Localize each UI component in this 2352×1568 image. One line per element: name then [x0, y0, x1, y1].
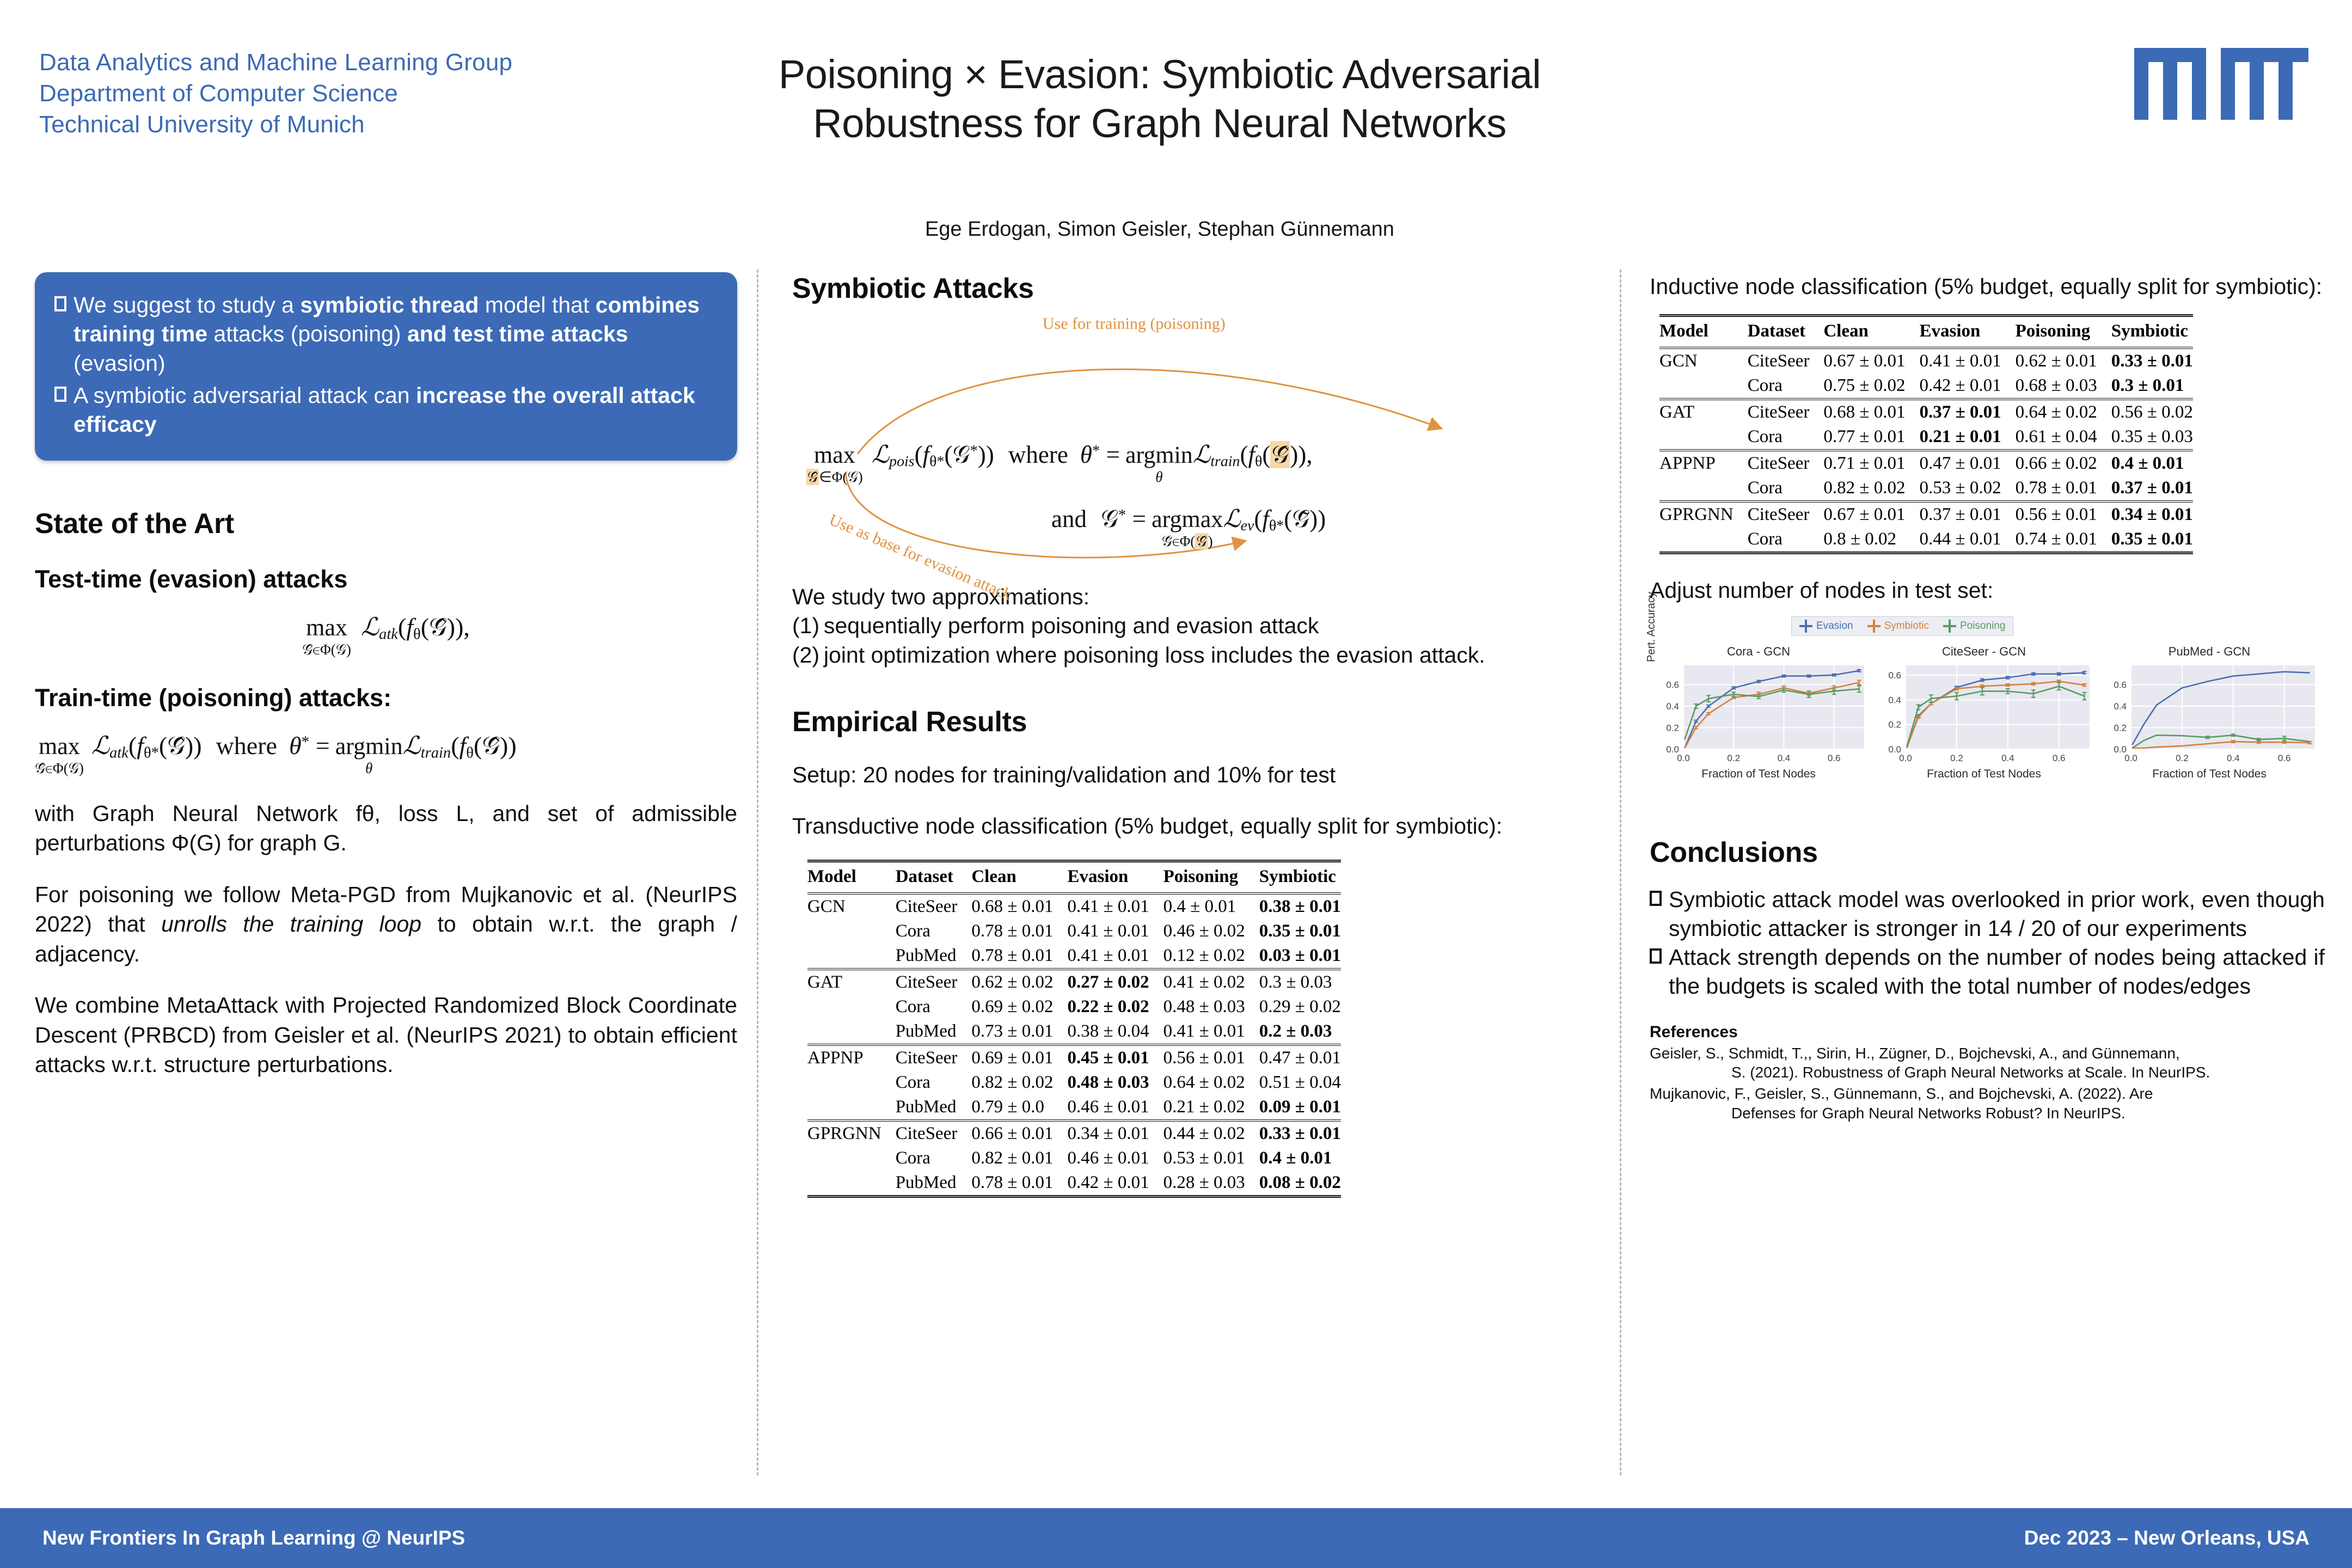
approximation-2-number: (2) [792, 641, 824, 670]
cell-model [807, 995, 896, 1019]
footer-bar: New Frontiers In Graph Learning @ NeurIP… [0, 1508, 2352, 1568]
cell-dataset: CiteSeer [1748, 348, 1824, 373]
table-row: GPRGNNCiteSeer0.67 ± 0.010.37 ± 0.010.56… [1659, 501, 2193, 527]
cell-clean: 0.8 ± 0.02 [1823, 527, 1919, 553]
key-bullet-1-text: We suggest to study a symbiotic thread m… [73, 291, 715, 378]
charts-block: Evasion Symbiotic Poisoning Cora - GCN0.… [1650, 616, 2325, 829]
cell-symbiotic: 0.3 ± 0.03 [1259, 969, 1341, 995]
chart-2-x-axis-label: Fraction of Test Nodes [1875, 768, 2093, 781]
table-row: Cora0.82 ± 0.010.46 ± 0.010.53 ± 0.010.4… [807, 1146, 1341, 1171]
approximation-1-number: (1) [792, 611, 824, 640]
references-heading: References [1650, 1023, 2325, 1042]
cell-poisoning: 0.53 ± 0.01 [1163, 1146, 1259, 1171]
cell-symbiotic: 0.35 ± 0.03 [2111, 425, 2193, 450]
inductive-results-table-wrapper: ModelDatasetCleanEvasionPoisoningSymbiot… [1659, 314, 2335, 554]
table-row: PubMed0.73 ± 0.010.38 ± 0.040.41 ± 0.010… [807, 1019, 1341, 1045]
cell-dataset: CiteSeer [1748, 450, 1824, 476]
approximations-intro: We study two approximations: [792, 583, 1587, 611]
cell-clean: 0.67 ± 0.01 [1823, 501, 1919, 527]
cell-poisoning: 0.12 ± 0.02 [1163, 944, 1259, 969]
transductive-results-table-wrapper: ModelDatasetCleanEvasionPoisoningSymbiot… [807, 860, 1480, 1198]
key-takeaways-box: We suggest to study a symbiotic thread m… [35, 272, 737, 461]
paragraph-definitions-text: with Graph Neural Network fθ, loss L, an… [35, 801, 737, 856]
svg-text:0.2: 0.2 [2176, 753, 2189, 763]
cell-evasion: 0.46 ± 0.01 [1067, 1095, 1163, 1120]
table-row: PubMed0.79 ± 0.00.46 ± 0.010.21 ± 0.020.… [807, 1095, 1341, 1120]
checkbox-icon [1650, 891, 1662, 906]
plus-marker-icon [1867, 620, 1881, 633]
cell-poisoning: 0.56 ± 0.01 [1163, 1045, 1259, 1070]
cell-symbiotic: 0.03 ± 0.01 [1259, 944, 1341, 969]
column-divider-2 [1620, 269, 1621, 1475]
cell-evasion: 0.42 ± 0.01 [1067, 1171, 1163, 1197]
title-line-2: Robustness for Graph Neural Networks [642, 99, 1677, 148]
chart-y-axis-label: Pert. Accuracy [1645, 592, 1658, 662]
title-line-1: Poisoning × Evasion: Symbiotic Adversari… [642, 50, 1677, 99]
cell-symbiotic: 0.33 ± 0.01 [2111, 348, 2193, 373]
table-row: GCNCiteSeer0.68 ± 0.010.41 ± 0.010.4 ± 0… [807, 893, 1341, 919]
cell-symbiotic: 0.09 ± 0.01 [1259, 1095, 1341, 1120]
conclusion-item-2: Attack strength depends on the number of… [1650, 943, 2325, 1001]
conclusions-list: Symbiotic attack model was overlooked in… [1650, 885, 2325, 1001]
middle-column: Symbiotic Attacks Use for training (pois… [792, 272, 1587, 1198]
cell-symbiotic: 0.37 ± 0.01 [2111, 476, 2193, 501]
chart-row: Cora - GCN0.00.20.40.60.00.20.40.6Fracti… [1650, 645, 2318, 781]
svg-text:0.0: 0.0 [1677, 753, 1690, 763]
cell-clean: 0.69 ± 0.01 [971, 1045, 1067, 1070]
cell-model: GAT [1659, 399, 1748, 425]
cell-evasion: 0.45 ± 0.01 [1067, 1045, 1163, 1070]
cell-model [807, 1146, 896, 1171]
svg-text:0.4: 0.4 [2001, 753, 2014, 763]
cell-clean: 0.82 ± 0.02 [1823, 476, 1919, 501]
cell-evasion: 0.48 ± 0.03 [1067, 1070, 1163, 1095]
chart-1-plot: 0.00.20.40.60.00.20.40.6 [1650, 662, 1867, 765]
cell-dataset: PubMed [896, 1095, 972, 1120]
legend-label-symbiotic: Symbiotic [1884, 620, 1929, 632]
table-header-evasion: Evasion [1919, 316, 2015, 348]
chart-1-title: Cora - GCN [1650, 645, 1867, 659]
right-column: Inductive node classification (5% budget… [1650, 272, 2325, 1123]
cell-dataset: PubMed [896, 944, 972, 969]
affiliation-line-3: Technical University of Munich [39, 109, 512, 140]
cell-model [1659, 476, 1748, 501]
section-heading-conclusions: Conclusions [1650, 836, 2325, 869]
reference-1-line-2: S. (2021). Robustness of Graph Neural Ne… [1650, 1063, 2325, 1082]
svg-text:0.6: 0.6 [1828, 753, 1841, 763]
cell-model: GAT [807, 969, 896, 995]
cell-clean: 0.71 ± 0.01 [1823, 450, 1919, 476]
cell-poisoning: 0.68 ± 0.03 [2016, 373, 2111, 399]
table-row: Cora0.82 ± 0.020.48 ± 0.030.64 ± 0.020.5… [807, 1070, 1341, 1095]
cell-clean: 0.68 ± 0.01 [971, 893, 1067, 919]
chart-legend: Evasion Symbiotic Poisoning [1791, 616, 2013, 636]
column-divider-1 [757, 269, 758, 1475]
cell-dataset: Cora [896, 995, 972, 1019]
svg-text:0.2: 0.2 [1950, 753, 1963, 763]
cell-dataset: CiteSeer [1748, 501, 1824, 527]
table-header-evasion: Evasion [1067, 861, 1163, 893]
cell-clean: 0.82 ± 0.02 [971, 1070, 1067, 1095]
cell-evasion: 0.47 ± 0.01 [1919, 450, 2015, 476]
cell-evasion: 0.44 ± 0.01 [1919, 527, 2015, 553]
equation-evasion: max 𝒢̂∈Φ(𝒢) ℒatk(fθ(𝒢̂)), [35, 612, 737, 658]
cell-evasion: 0.37 ± 0.01 [1919, 501, 2015, 527]
cell-poisoning: 0.46 ± 0.02 [1163, 919, 1259, 944]
paragraph-definitions: with Graph Neural Network fθ, loss L, an… [35, 799, 737, 858]
transductive-caption: Transductive node classification (5% bud… [792, 811, 1587, 841]
svg-text:0.6: 0.6 [1888, 670, 1901, 681]
chart-2-title: CiteSeer - GCN [1875, 645, 2093, 659]
setup-text: Setup: 20 nodes for training/validation … [792, 760, 1587, 790]
cell-clean: 0.78 ± 0.01 [971, 944, 1067, 969]
table-header-clean: Clean [971, 861, 1067, 893]
cell-poisoning: 0.64 ± 0.02 [1163, 1070, 1259, 1095]
section-heading-symbiotic-attacks: Symbiotic Attacks [792, 272, 1587, 305]
chart-2: CiteSeer - GCN0.00.20.40.60.00.20.40.6Fr… [1875, 645, 2093, 781]
svg-text:0.6: 0.6 [1666, 679, 1679, 690]
cell-evasion: 0.41 ± 0.01 [1919, 348, 2015, 373]
cell-evasion: 0.41 ± 0.01 [1067, 893, 1163, 919]
svg-text:0.4: 0.4 [1888, 695, 1901, 705]
svg-text:0.2: 0.2 [1666, 722, 1679, 733]
cell-poisoning: 0.28 ± 0.03 [1163, 1171, 1259, 1197]
cell-model [807, 1019, 896, 1045]
cell-symbiotic: 0.47 ± 0.01 [1259, 1045, 1341, 1070]
cell-symbiotic: 0.29 ± 0.02 [1259, 995, 1341, 1019]
affiliation-line-2: Department of Computer Science [39, 78, 512, 109]
cell-evasion: 0.37 ± 0.01 [1919, 399, 2015, 425]
cell-clean: 0.66 ± 0.01 [971, 1120, 1067, 1146]
footer-date-location: Dec 2023 – New Orleans, USA [2024, 1527, 2310, 1549]
cell-poisoning: 0.74 ± 0.01 [2016, 527, 2111, 553]
subheading-poisoning-attacks: Train-time (poisoning) attacks: [35, 684, 737, 712]
cell-evasion: 0.34 ± 0.01 [1067, 1120, 1163, 1146]
diagram-label-use-for-training: Use for training (poisoning) [1043, 315, 1226, 333]
footer-venue: New Frontiers In Graph Learning @ NeurIP… [42, 1527, 465, 1549]
table-row: APPNPCiteSeer0.69 ± 0.010.45 ± 0.010.56 … [807, 1045, 1341, 1070]
approximation-2-text: joint optimization where poisoning loss … [824, 641, 1587, 670]
cell-clean: 0.77 ± 0.01 [1823, 425, 1919, 450]
cell-clean: 0.69 ± 0.02 [971, 995, 1067, 1019]
cell-dataset: Cora [896, 1070, 972, 1095]
cell-poisoning: 0.66 ± 0.02 [2016, 450, 2111, 476]
legend-item-evasion: Evasion [1799, 620, 1853, 633]
table-row: GATCiteSeer0.68 ± 0.010.37 ± 0.010.64 ± … [1659, 399, 2193, 425]
section-heading-state-of-the-art: State of the Art [35, 507, 737, 540]
cell-clean: 0.78 ± 0.01 [971, 1171, 1067, 1197]
cell-clean: 0.75 ± 0.02 [1823, 373, 1919, 399]
reference-item-2: Mujkanovic, F., Geisler, S., Günnemann, … [1650, 1084, 2325, 1123]
cell-dataset: Cora [1748, 425, 1824, 450]
table-header-symbiotic: Symbiotic [2111, 316, 2193, 348]
cell-evasion: 0.41 ± 0.01 [1067, 944, 1163, 969]
cell-symbiotic: 0.33 ± 0.01 [1259, 1120, 1341, 1146]
cell-symbiotic: 0.4 ± 0.01 [2111, 450, 2193, 476]
cell-poisoning: 0.21 ± 0.02 [1163, 1095, 1259, 1120]
cell-dataset: CiteSeer [896, 1120, 972, 1146]
table-header-poisoning: Poisoning [2016, 316, 2111, 348]
cell-model [1659, 373, 1748, 399]
table-header-clean: Clean [1823, 316, 1919, 348]
legend-item-poisoning: Poisoning [1943, 620, 2005, 633]
cell-poisoning: 0.41 ± 0.02 [1163, 969, 1259, 995]
cell-model: GPRGNN [807, 1120, 896, 1146]
table-row: APPNPCiteSeer0.71 ± 0.010.47 ± 0.010.66 … [1659, 450, 2193, 476]
chart-3-plot: 0.00.20.40.60.00.20.40.6 [2100, 662, 2318, 765]
cell-evasion: 0.38 ± 0.04 [1067, 1019, 1163, 1045]
chart-1-x-axis-label: Fraction of Test Nodes [1650, 768, 1867, 781]
checkbox-icon [1650, 948, 1662, 964]
svg-text:0.0: 0.0 [1899, 753, 1912, 763]
svg-text:0.2: 0.2 [2114, 722, 2127, 733]
table-row: Cora0.75 ± 0.020.42 ± 0.010.68 ± 0.030.3… [1659, 373, 2193, 399]
cell-symbiotic: 0.35 ± 0.01 [1259, 919, 1341, 944]
cell-symbiotic: 0.51 ± 0.04 [1259, 1070, 1341, 1095]
cell-clean: 0.62 ± 0.02 [971, 969, 1067, 995]
conclusion-item-1: Symbiotic attack model was overlooked in… [1650, 885, 2325, 944]
cell-poisoning: 0.64 ± 0.02 [2016, 399, 2111, 425]
table-header-dataset: Dataset [1748, 316, 1824, 348]
chart-3-title: PubMed - GCN [2100, 645, 2318, 659]
cell-symbiotic: 0.2 ± 0.03 [1259, 1019, 1341, 1045]
tum-logo-icon [2134, 48, 2308, 120]
svg-text:0.4: 0.4 [2114, 701, 2127, 712]
legend-label-poisoning: Poisoning [1960, 620, 2005, 632]
cell-model [807, 1171, 896, 1197]
cell-evasion: 0.46 ± 0.01 [1067, 1146, 1163, 1171]
cell-evasion: 0.21 ± 0.01 [1919, 425, 2015, 450]
cell-dataset: PubMed [896, 1171, 972, 1197]
cell-model [807, 944, 896, 969]
cell-model [807, 1095, 896, 1120]
svg-text:0.4: 0.4 [1778, 753, 1791, 763]
cell-symbiotic: 0.35 ± 0.01 [2111, 527, 2193, 553]
cell-dataset: Cora [896, 1146, 972, 1171]
legend-item-symbiotic: Symbiotic [1867, 620, 1929, 633]
paragraph-prbcd: We combine MetaAttack with Projected Ran… [35, 990, 737, 1080]
approximation-item-2: (2) joint optimization where poisoning l… [792, 641, 1587, 670]
cell-model [807, 919, 896, 944]
paragraph-meta-pgd-italic: unrolls the training loop [161, 911, 421, 936]
cell-evasion: 0.42 ± 0.01 [1919, 373, 2015, 399]
table-row: PubMed0.78 ± 0.010.42 ± 0.010.28 ± 0.030… [807, 1171, 1341, 1197]
table-header-poisoning: Poisoning [1163, 861, 1259, 893]
cell-model: GCN [1659, 348, 1748, 373]
cell-poisoning: 0.48 ± 0.03 [1163, 995, 1259, 1019]
table-row: PubMed0.78 ± 0.010.41 ± 0.010.12 ± 0.020… [807, 944, 1341, 969]
left-column: We suggest to study a symbiotic thread m… [35, 272, 737, 1080]
cell-evasion: 0.27 ± 0.02 [1067, 969, 1163, 995]
svg-text:0.4: 0.4 [2227, 753, 2240, 763]
plus-marker-icon [1799, 620, 1812, 633]
cell-clean: 0.67 ± 0.01 [1823, 348, 1919, 373]
cell-model: GPRGNN [1659, 501, 1748, 527]
checkbox-icon [54, 296, 66, 311]
cell-model: APPNP [807, 1045, 896, 1070]
author-list: Ege Erdogan, Simon Geisler, Stephan Günn… [642, 218, 1677, 241]
key-bullet-1: We suggest to study a symbiotic thread m… [54, 291, 715, 378]
cell-dataset: CiteSeer [896, 893, 972, 919]
cell-model [1659, 425, 1748, 450]
page-title: Poisoning × Evasion: Symbiotic Adversari… [642, 50, 1677, 149]
equation-poisoning: max 𝒢̂∈Φ(𝒢) ℒatk(fθ*(𝒢̂)) where θ* = arg… [35, 731, 737, 777]
chart-1: Cora - GCN0.00.20.40.60.00.20.40.6Fracti… [1650, 645, 1867, 781]
svg-text:0.6: 0.6 [2114, 679, 2127, 690]
cell-model: GCN [807, 893, 896, 919]
table-row: Cora0.8 ± 0.020.44 ± 0.010.74 ± 0.010.35… [1659, 527, 2193, 553]
svg-text:0.2: 0.2 [1727, 753, 1740, 763]
cell-clean: 0.73 ± 0.01 [971, 1019, 1067, 1045]
cell-dataset: Cora [1748, 527, 1824, 553]
chart-3-x-axis-label: Fraction of Test Nodes [2100, 768, 2318, 781]
table-header-symbiotic: Symbiotic [1259, 861, 1341, 893]
affiliation-line-1: Data Analytics and Machine Learning Grou… [39, 47, 512, 78]
table-row: Cora0.77 ± 0.010.21 ± 0.010.61 ± 0.040.3… [1659, 425, 2193, 450]
cell-dataset: CiteSeer [896, 1045, 972, 1070]
cell-clean: 0.78 ± 0.01 [971, 919, 1067, 944]
key-bullet-2: A symbiotic adversarial attack can incre… [54, 381, 715, 439]
charts-caption: Adjust number of nodes in test set: [1650, 576, 2325, 605]
cell-dataset: Cora [896, 919, 972, 944]
section-heading-empirical-results: Empirical Results [792, 706, 1587, 738]
cell-dataset: Cora [1748, 476, 1824, 501]
legend-label-evasion: Evasion [1816, 620, 1853, 632]
cell-poisoning: 0.41 ± 0.01 [1163, 1019, 1259, 1045]
equation-symbiotic-outer: max 𝒢̂∈Φ(𝒢) ℒpois(fθ*(𝒢*)) where θ* = ar… [806, 440, 1313, 486]
cell-model [1659, 527, 1748, 553]
reference-2-line-1: Mujkanovic, F., Geisler, S., Günnemann, … [1650, 1085, 2153, 1102]
cell-poisoning: 0.78 ± 0.01 [2016, 476, 2111, 501]
cell-model [807, 1070, 896, 1095]
chart-3: PubMed - GCN0.00.20.40.60.00.20.40.6Frac… [2100, 645, 2318, 781]
cell-poisoning: 0.44 ± 0.02 [1163, 1120, 1259, 1146]
cell-model: APPNP [1659, 450, 1748, 476]
key-bullet-2-text: A symbiotic adversarial attack can incre… [73, 381, 715, 439]
svg-text:0.2: 0.2 [1888, 719, 1901, 730]
reference-1-line-1: Geisler, S., Schmidt, T.,, Sirin, H., Zü… [1650, 1045, 2180, 1062]
cell-clean: 0.68 ± 0.01 [1823, 399, 1919, 425]
chart-2-plot: 0.00.20.40.60.00.20.40.6 [1875, 662, 2093, 765]
svg-text:0.6: 0.6 [2053, 753, 2066, 763]
cell-symbiotic: 0.4 ± 0.01 [1259, 1146, 1341, 1171]
cell-evasion: 0.41 ± 0.01 [1067, 919, 1163, 944]
cell-poisoning: 0.62 ± 0.01 [2016, 348, 2111, 373]
checkbox-icon [54, 387, 66, 402]
table-row: GATCiteSeer0.62 ± 0.020.27 ± 0.020.41 ± … [807, 969, 1341, 995]
cell-poisoning: 0.56 ± 0.01 [2016, 501, 2111, 527]
equation-symbiotic-inner: and 𝒢* = argmax 𝒢̃∈Φ(𝒢̂) ℒev(fθ*(𝒢̃)) [1051, 504, 1326, 550]
table-row: GPRGNNCiteSeer0.66 ± 0.010.34 ± 0.010.44… [807, 1120, 1341, 1146]
affiliation-block: Data Analytics and Machine Learning Grou… [39, 47, 512, 140]
svg-text:0.6: 0.6 [2278, 753, 2291, 763]
cell-symbiotic: 0.38 ± 0.01 [1259, 893, 1341, 919]
poster-root: Data Analytics and Machine Learning Grou… [0, 0, 2352, 1568]
cell-evasion: 0.22 ± 0.02 [1067, 995, 1163, 1019]
cell-symbiotic: 0.56 ± 0.02 [2111, 399, 2193, 425]
approximations-block: We study two approximations: (1) sequent… [792, 583, 1587, 670]
table-row: Cora0.82 ± 0.020.53 ± 0.020.78 ± 0.010.3… [1659, 476, 2193, 501]
conclusion-1-text: Symbiotic attack model was overlooked in… [1669, 885, 2325, 944]
cell-dataset: CiteSeer [896, 969, 972, 995]
table-row: Cora0.69 ± 0.020.22 ± 0.020.48 ± 0.030.2… [807, 995, 1341, 1019]
approximation-item-1: (1) sequentially perform poisoning and e… [792, 611, 1587, 640]
table-header-model: Model [807, 861, 896, 893]
symbiotic-attack-diagram: Use for training (poisoning) Use as base… [792, 319, 1587, 575]
cell-poisoning: 0.61 ± 0.04 [2016, 425, 2111, 450]
table-header-dataset: Dataset [896, 861, 972, 893]
subheading-evasion-attacks: Test-time (evasion) attacks [35, 565, 737, 593]
table-header-model: Model [1659, 316, 1748, 348]
cell-dataset: CiteSeer [1748, 399, 1824, 425]
svg-text:0.4: 0.4 [1666, 701, 1679, 712]
cell-dataset: PubMed [896, 1019, 972, 1045]
table-row: Cora0.78 ± 0.010.41 ± 0.010.46 ± 0.020.3… [807, 919, 1341, 944]
cell-clean: 0.82 ± 0.01 [971, 1146, 1067, 1171]
cell-symbiotic: 0.08 ± 0.02 [1259, 1171, 1341, 1197]
cell-clean: 0.79 ± 0.0 [971, 1095, 1067, 1120]
reference-2-line-2: Defenses for Graph Neural Networks Robus… [1650, 1104, 2325, 1123]
cell-symbiotic: 0.3 ± 0.01 [2111, 373, 2193, 399]
plus-marker-icon [1943, 620, 1956, 633]
svg-text:0.0: 0.0 [2124, 753, 2137, 763]
transductive-results-table: ModelDatasetCleanEvasionPoisoningSymbiot… [807, 860, 1341, 1198]
cell-evasion: 0.53 ± 0.02 [1919, 476, 2015, 501]
inductive-caption: Inductive node classification (5% budget… [1650, 272, 2325, 301]
cell-symbiotic: 0.34 ± 0.01 [2111, 501, 2193, 527]
conclusion-2-text: Attack strength depends on the number of… [1669, 943, 2325, 1001]
cell-poisoning: 0.4 ± 0.01 [1163, 893, 1259, 919]
table-row: GCNCiteSeer0.67 ± 0.010.41 ± 0.010.62 ± … [1659, 348, 2193, 373]
approximation-1-text: sequentially perform poisoning and evasi… [824, 611, 1587, 640]
cell-dataset: Cora [1748, 373, 1824, 399]
paragraph-meta-pgd: For poisoning we follow Meta-PGD from Mu… [35, 880, 737, 969]
inductive-results-table: ModelDatasetCleanEvasionPoisoningSymbiot… [1659, 314, 2193, 554]
reference-item-1: Geisler, S., Schmidt, T.,, Sirin, H., Zü… [1650, 1044, 2325, 1082]
